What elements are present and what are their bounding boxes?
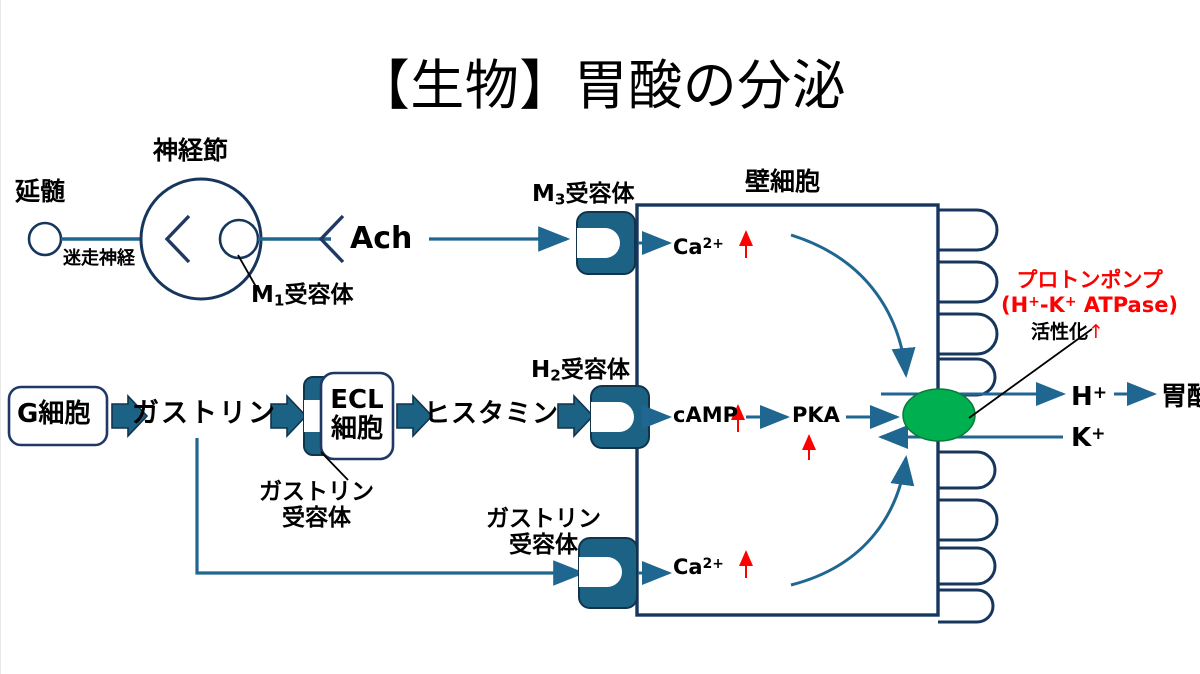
block-arrow-histamine-h2 bbox=[558, 396, 593, 436]
page-title: 【生物】胃酸の分泌 bbox=[1, 56, 1200, 116]
proton-pump-ellipse bbox=[903, 389, 975, 441]
k-ion-label: K+ bbox=[1071, 424, 1106, 453]
m3-receptor-label: M3受容体 bbox=[532, 182, 634, 208]
h2-receptor-label: H2受容体 bbox=[531, 358, 630, 384]
activation-label: 活性化↑ bbox=[1031, 322, 1104, 343]
medulla-label: 延髄 bbox=[15, 178, 65, 206]
activation-up-arrow-icon: ↑ bbox=[1088, 321, 1104, 343]
m3-receptor-shape bbox=[577, 212, 635, 274]
gastrin-receptor-parietal-label: ガストリン受容体 bbox=[486, 506, 601, 558]
g-cell-label: G細胞 bbox=[17, 400, 90, 429]
h2-receptor-shape bbox=[591, 386, 649, 448]
ganglion-label: 神経節 bbox=[153, 137, 228, 165]
signal-camp: cAMP bbox=[673, 404, 738, 428]
signal-calcium-bottom: Ca2+ bbox=[673, 556, 724, 580]
parietal-cell-label: 壁細胞 bbox=[745, 168, 820, 196]
m1-receptor-label: M1受容体 bbox=[251, 283, 353, 309]
ecl-cell-label: ECL細胞 bbox=[325, 386, 389, 443]
m1-receptor-neuron-circle bbox=[220, 220, 258, 258]
signal-calcium-top: Ca2+ bbox=[673, 236, 724, 260]
gastrin-receptor-ecl-label: ガストリン受容体 bbox=[259, 479, 374, 531]
histamine-label: ヒスタミン bbox=[424, 400, 559, 429]
gastrin-label: ガストリン bbox=[132, 399, 277, 429]
diagram-canvas: 【生物】胃酸の分泌 延髄 神経節 迷走神経 M1受容体 Ach M3受容体 H2… bbox=[0, 0, 1200, 674]
h-ion-label: H+ bbox=[1071, 383, 1107, 412]
ach-label: Ach bbox=[350, 222, 412, 256]
medulla-soma-circle bbox=[29, 223, 61, 255]
proton-pump-label: プロトンポンプ(H+-K+ ATPase) bbox=[1001, 268, 1178, 318]
vagus-nerve-label: 迷走神経 bbox=[63, 249, 135, 269]
neural-pathway-group bbox=[29, 179, 567, 299]
signal-pka: PKA bbox=[792, 404, 840, 428]
gastric-acid-label: 胃酸 bbox=[1161, 383, 1200, 412]
